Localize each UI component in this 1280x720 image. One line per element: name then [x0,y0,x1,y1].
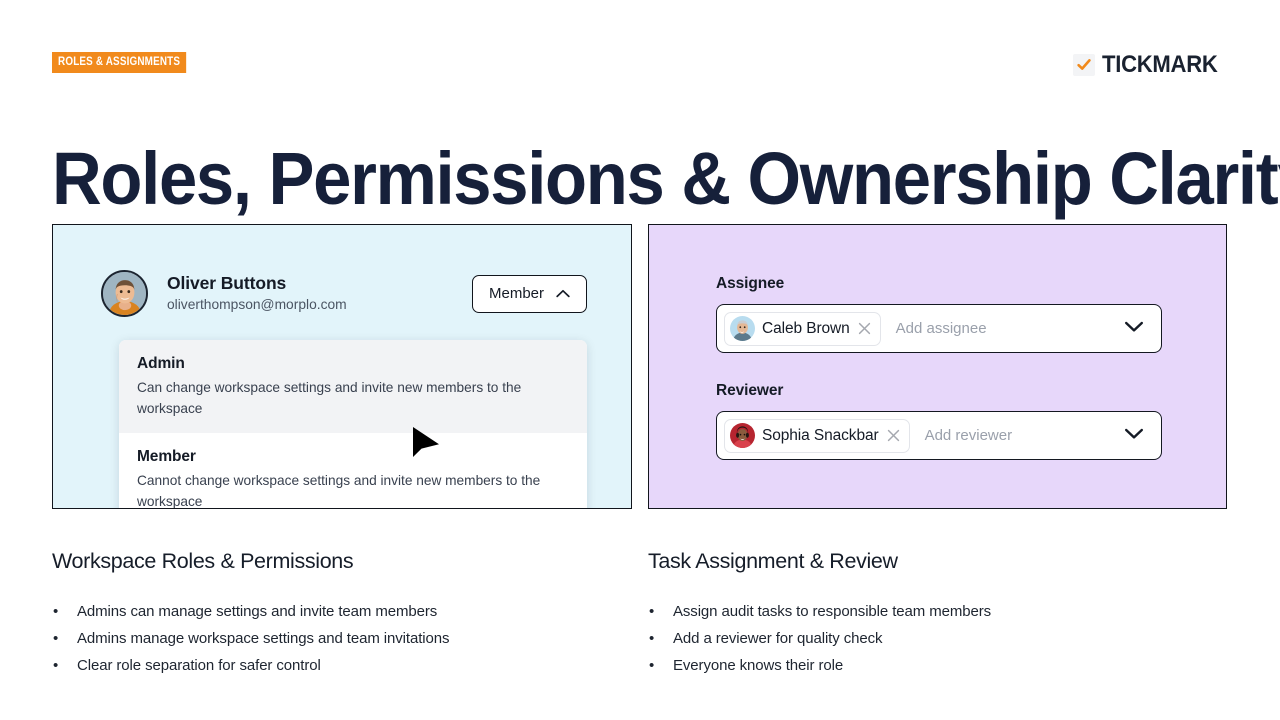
reviewer-name: Sophia Snackbar [762,427,879,445]
bullet-list: • Assign audit tasks to responsible team… [648,598,1208,679]
reviewer-input[interactable]: Sophia Snackbar Add reviewer [716,411,1162,460]
reviewer-field-block: Reviewer Sophia Snackba [716,380,1162,460]
avatar [730,316,755,341]
assignee-name: Caleb Brown [762,320,850,338]
bullet-glyph: • [53,625,58,652]
role-option-member[interactable]: Member Cannot change workspace settings … [119,433,587,509]
bullet-list: • Admins can manage settings and invite … [52,598,612,679]
bullet-glyph: • [53,598,58,625]
role-option-description: Cannot change workspace settings and inv… [137,470,569,509]
role-option-title: Member [137,446,569,467]
role-dropdown-button[interactable]: Member [472,275,587,313]
workspace-roles-card: Oliver Buttons oliverthompson@morplo.com… [52,224,632,509]
chevron-down-icon[interactable] [1124,427,1144,445]
list-item: • Add a reviewer for quality check [648,625,1208,652]
bullet-glyph: • [649,625,654,652]
task-assignment-card: Assignee Caleb Brown [648,224,1227,509]
list-item: • Assign audit tasks to responsible team… [648,598,1208,625]
chevron-up-icon [556,285,570,302]
list-item: • Admins manage workspace settings and t… [52,625,612,652]
assignee-input[interactable]: Caleb Brown Add assignee [716,304,1162,353]
orange-check-icon [1073,54,1095,76]
assignee-field-block: Assignee Caleb Brown [716,273,1162,353]
list-item: • Admins can manage settings and invite … [52,598,612,625]
reviewer-token[interactable]: Sophia Snackbar [724,419,910,453]
list-item: • Everyone knows their role [648,652,1208,679]
assignee-label: Assignee [716,273,1162,294]
member-name: Oliver Buttons [167,272,472,294]
brand-name: TICKMARK [1102,51,1218,79]
list-item-label: Admins can manage settings and invite te… [77,603,437,620]
workspace-roles-section: Workspace Roles & Permissions • Admins c… [52,546,612,679]
list-item-label: Everyone knows their role [673,657,843,674]
reviewer-placeholder[interactable]: Add reviewer [910,427,1124,444]
chevron-down-icon[interactable] [1124,320,1144,338]
member-email: oliverthompson@morplo.com [167,295,472,315]
close-icon[interactable] [886,428,901,443]
role-option-description: Can change workspace settings and invite… [137,377,569,419]
bullet-glyph: • [649,652,654,679]
section-heading: Task Assignment & Review [648,546,1208,576]
member-row: Oliver Buttons oliverthompson@morplo.com… [101,270,587,317]
list-item-label: Add a reviewer for quality check [673,630,882,647]
list-item-label: Assign audit tasks to responsible team m… [673,603,991,620]
member-identity: Oliver Buttons oliverthompson@morplo.com [167,272,472,315]
page-title: Roles, Permissions & Ownership Clarity [52,136,1280,222]
reviewer-label: Reviewer [716,380,1162,401]
avatar [730,423,755,448]
list-item-label: Admins manage workspace settings and tea… [77,630,449,647]
assignee-placeholder[interactable]: Add assignee [881,320,1124,337]
role-dropdown-menu[interactable]: Admin Can change workspace settings and … [119,340,587,509]
list-item: • Clear role separation for safer contro… [52,652,612,679]
brand-logo: TICKMARK [1073,50,1228,80]
role-option-admin[interactable]: Admin Can change workspace settings and … [119,340,587,433]
section-heading: Workspace Roles & Permissions [52,546,612,576]
list-item-label: Clear role separation for safer control [77,657,321,674]
bullet-glyph: • [649,598,654,625]
avatar [101,270,148,317]
eyebrow-badge: ROLES & ASSIGNMENTS [52,52,186,73]
role-dropdown-label: Member [489,285,544,302]
close-icon[interactable] [857,321,872,336]
role-option-title: Admin [137,353,569,374]
bullet-glyph: • [53,652,58,679]
task-assignment-section: Task Assignment & Review • Assign audit … [648,546,1208,679]
assignee-token[interactable]: Caleb Brown [724,312,881,346]
